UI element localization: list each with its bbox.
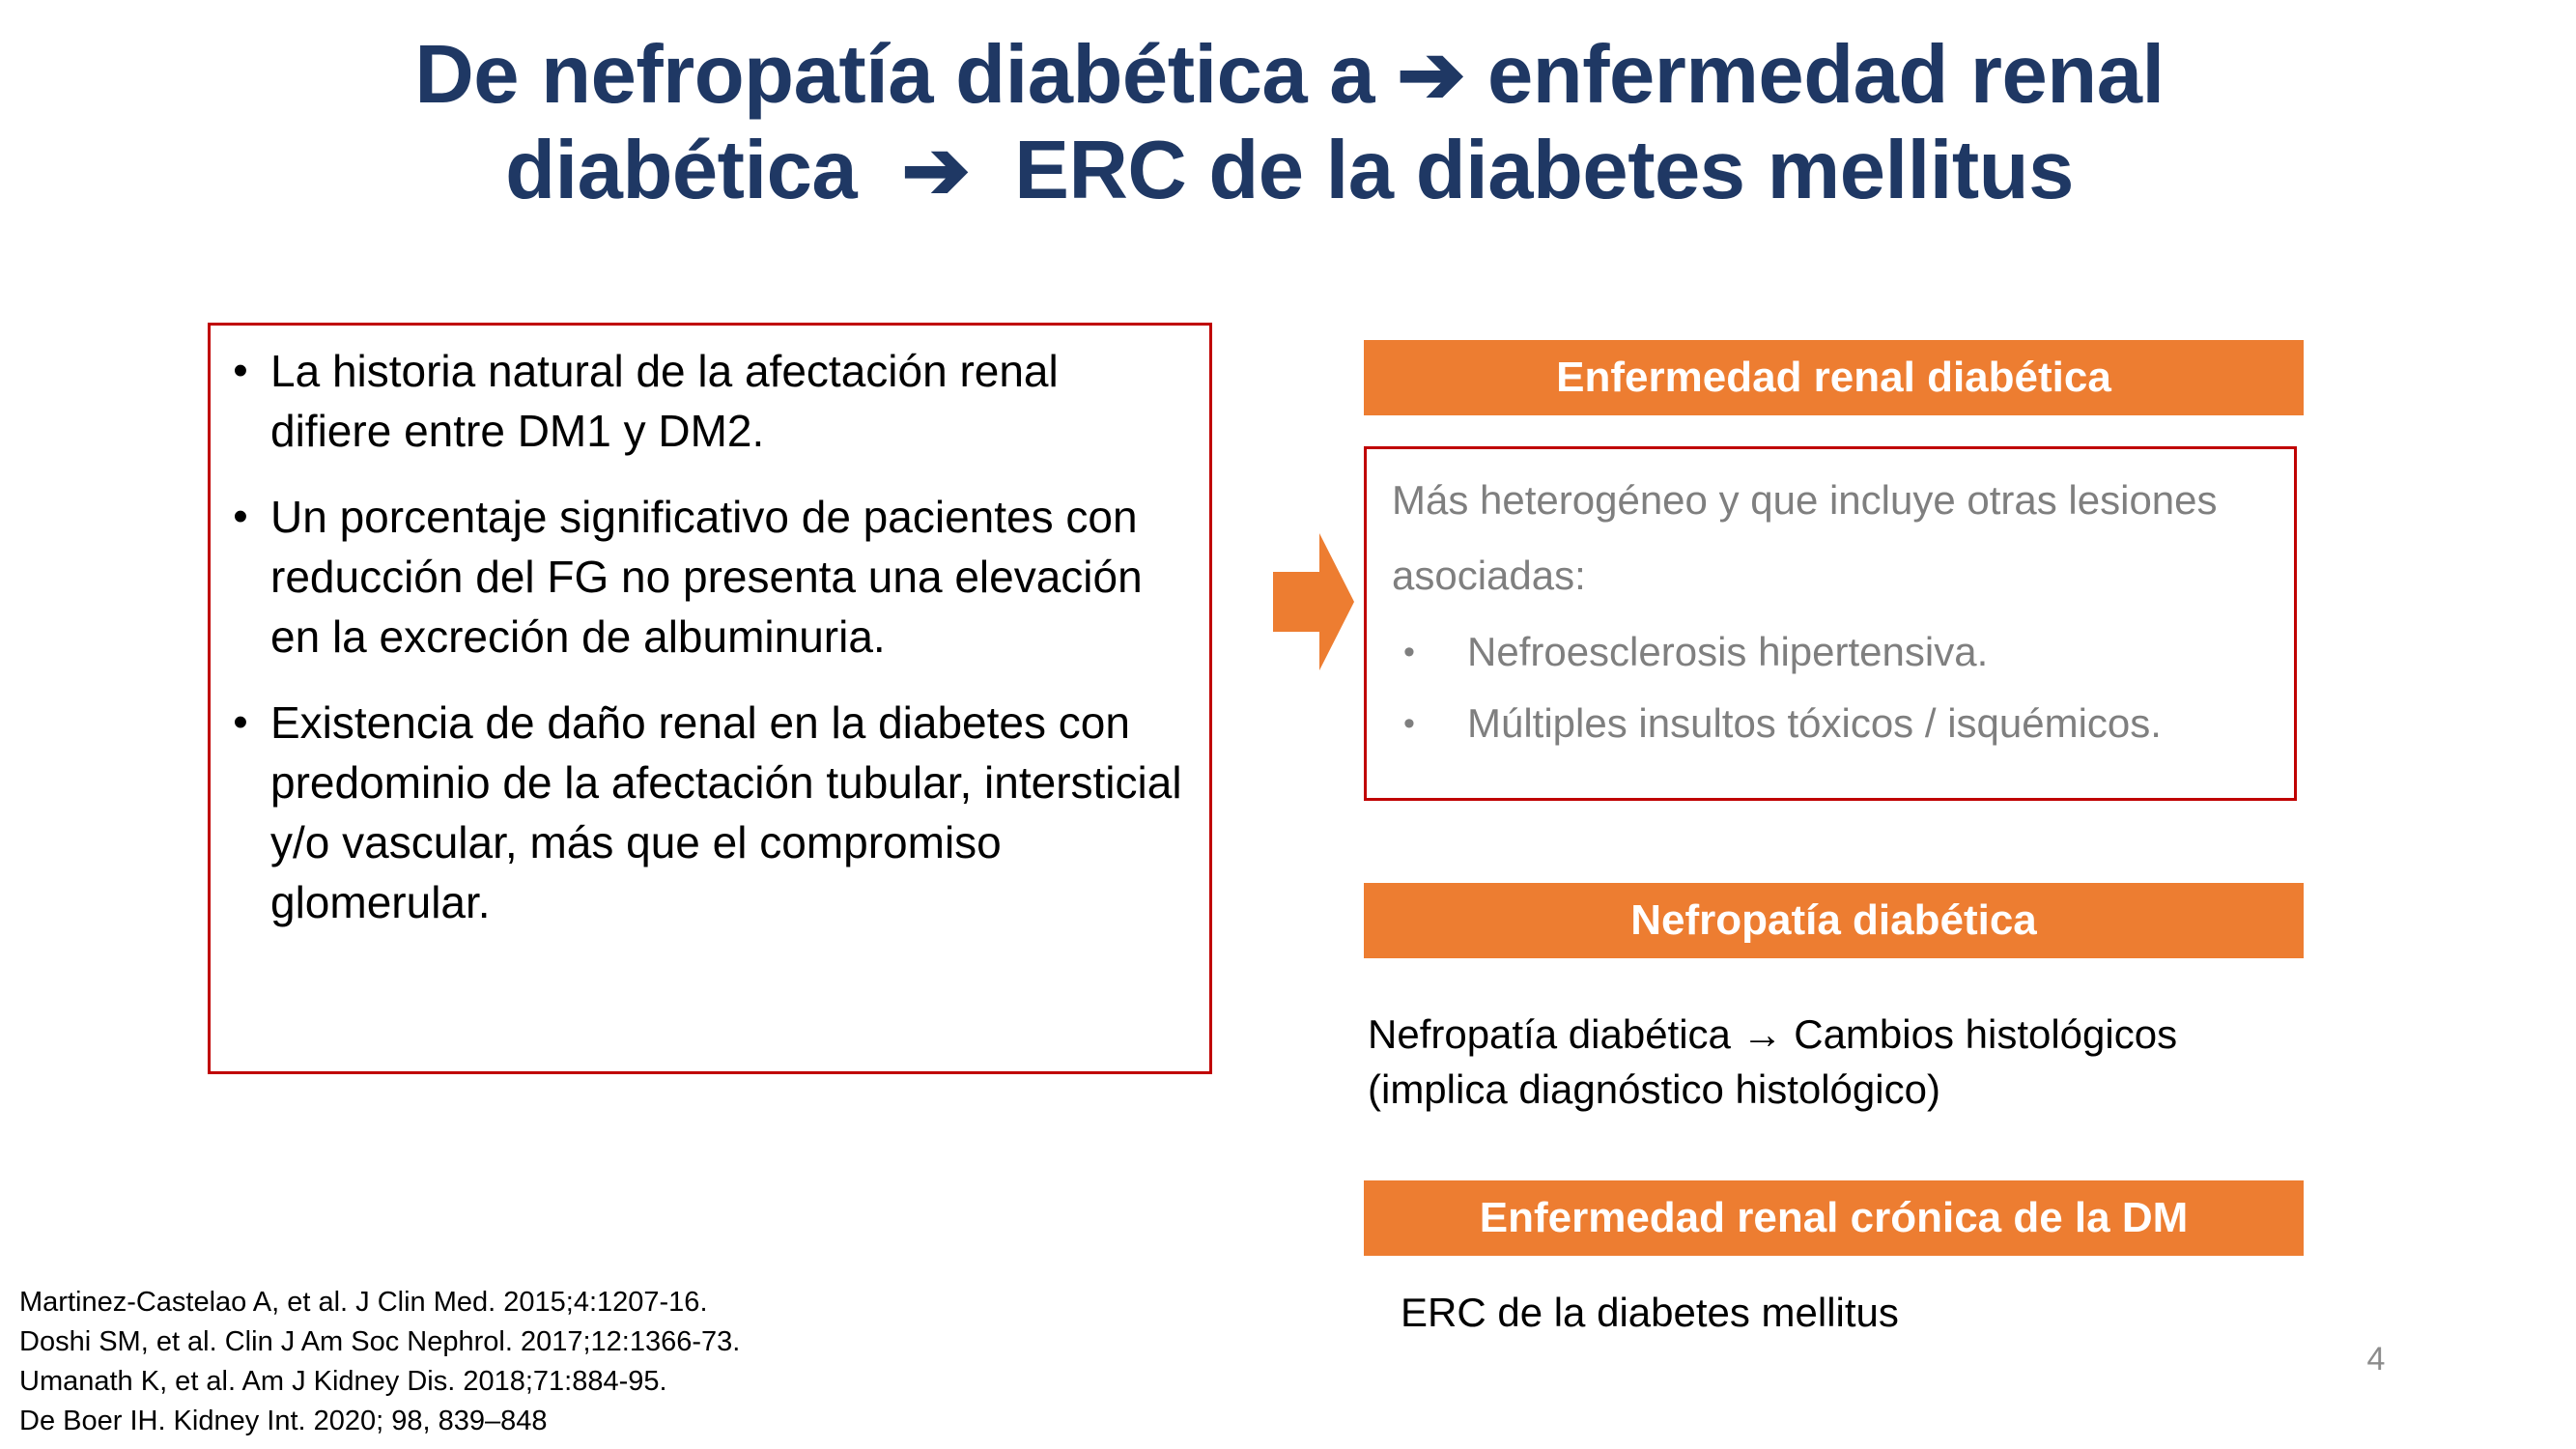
reference-line-1: Martinez-Castelao A, et al. J Clin Med. … xyxy=(19,1283,889,1322)
erc-note: ERC de la diabetes mellitus xyxy=(1401,1285,2318,1340)
erd-bullet-list: • Nefroesclerosis hipertensiva. • Múltip… xyxy=(1392,623,2271,766)
left-bullet-text-1: La historia natural de la afectación ren… xyxy=(270,341,1182,461)
enfermedad-renal-diabetica-box: Más heterogéneo y que incluye otras lesi… xyxy=(1364,446,2297,801)
bullet-icon: • xyxy=(211,341,270,401)
section-header-enfermedad-renal-cronica-dm: Enfermedad renal crónica de la DM xyxy=(1364,1180,2304,1256)
list-item: • Nefroesclerosis hipertensiva. xyxy=(1392,623,2271,681)
section-header-label: Nefropatía diabética xyxy=(1630,896,2037,945)
list-item: • Un porcentaje significativo de pacient… xyxy=(211,487,1182,667)
list-item: • Existencia de daño renal en la diabete… xyxy=(211,693,1182,932)
page-number: 4 xyxy=(2347,1341,2405,1378)
slide-title-line-2: diabética ➔ ERC de la diabetes mellitus xyxy=(135,123,2444,218)
section-header-label: Enfermedad renal diabética xyxy=(1556,354,2111,402)
nd-note-line-2: (implica diagnóstico histológico) xyxy=(1368,1062,2314,1117)
erd-bullet-text-1: Nefroesclerosis hipertensiva. xyxy=(1467,623,2271,681)
erd-bullet-text-2: Múltiples insultos tóxicos / isquémicos. xyxy=(1467,695,2271,753)
bullet-icon: • xyxy=(1392,695,1467,753)
reference-line-4: De Boer IH. Kidney Int. 2020; 98, 839–84… xyxy=(19,1402,889,1441)
reference-line-3: Umanath K, et al. Am J Kidney Dis. 2018;… xyxy=(19,1362,889,1402)
list-item: • La historia natural de la afectación r… xyxy=(211,341,1182,461)
reference-line-2: Doshi SM, et al. Clin J Am Soc Nephrol. … xyxy=(19,1322,889,1362)
references-block: Martinez-Castelao A, et al. J Clin Med. … xyxy=(19,1283,889,1441)
bullet-icon: • xyxy=(211,693,270,753)
left-bullet-box: • La historia natural de la afectación r… xyxy=(208,323,1212,1074)
slide-title: De nefropatía diabética a ➔ enfermedad r… xyxy=(135,27,2444,219)
section-header-label: Enfermedad renal crónica de la DM xyxy=(1480,1194,2189,1242)
left-bullet-text-3: Existencia de daño renal en la diabetes … xyxy=(270,693,1182,932)
nd-note-line-1: Nefropatía diabética → Cambios histológi… xyxy=(1368,1007,2314,1062)
bullet-icon: • xyxy=(1392,623,1467,681)
list-item: • Múltiples insultos tóxicos / isquémico… xyxy=(1392,695,2271,753)
nefropatia-diabetica-note: Nefropatía diabética → Cambios histológi… xyxy=(1368,1007,2314,1117)
right-arrow-icon xyxy=(1273,533,1354,670)
left-bullet-text-2: Un porcentaje significativo de pacientes… xyxy=(270,487,1182,667)
left-bullet-list: • La historia natural de la afectación r… xyxy=(211,341,1209,932)
bullet-icon: • xyxy=(211,487,270,547)
section-header-nefropatia-diabetica: Nefropatía diabética xyxy=(1364,883,2304,958)
erd-lead-text: Más heterogéneo y que incluye otras lesi… xyxy=(1392,463,2261,613)
section-header-enfermedad-renal-diabetica: Enfermedad renal diabética xyxy=(1364,340,2304,415)
slide-title-line-1: De nefropatía diabética a ➔ enfermedad r… xyxy=(135,27,2444,123)
